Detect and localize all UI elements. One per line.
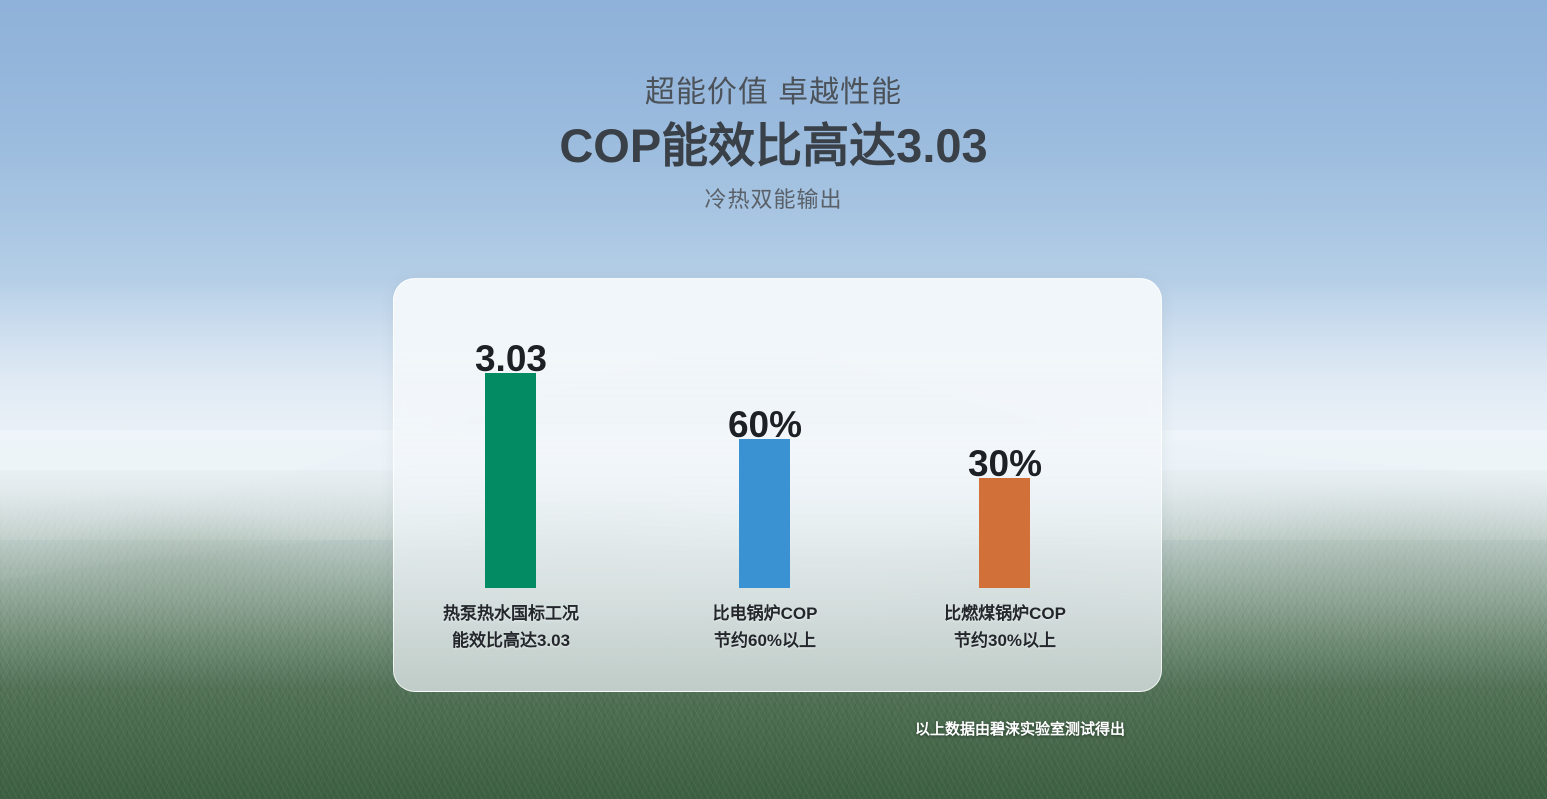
bar-caption-2-line2: 节约60%以上 bbox=[655, 627, 875, 654]
bar-caption-3-line1: 比燃煤锅炉COP bbox=[895, 600, 1115, 627]
subtitle-text: 冷热双能输出 bbox=[0, 184, 1547, 216]
bar-rect-1 bbox=[485, 373, 536, 588]
kicker-text: 超能价值 卓越性能 bbox=[0, 72, 1547, 114]
promo-banner: 超能价值 卓越性能 COP能效比高达3.03 冷热双能输出 3.03 热泵热水国… bbox=[0, 0, 1547, 799]
bar-caption-1-line1: 热泵热水国标工况 bbox=[401, 600, 621, 627]
header-block: 超能价值 卓越性能 COP能效比高达3.03 冷热双能输出 bbox=[0, 72, 1547, 216]
bar-caption-1: 热泵热水国标工况 能效比高达3.03 bbox=[401, 600, 621, 654]
bar-chart: 3.03 热泵热水国标工况 能效比高达3.03 60% 比电锅炉COP 节约60… bbox=[393, 278, 1160, 690]
bar-caption-3-line2: 节约30%以上 bbox=[895, 627, 1115, 654]
bar-caption-1-line2: 能效比高达3.03 bbox=[401, 627, 621, 654]
bar-caption-2-line1: 比电锅炉COP bbox=[655, 600, 875, 627]
page-title: COP能效比高达3.03 bbox=[0, 116, 1547, 176]
bar-rect-2 bbox=[739, 439, 790, 588]
bar-caption-3: 比燃煤锅炉COP 节约30%以上 bbox=[895, 600, 1115, 654]
data-source-footnote: 以上数据由碧涞实验室测试得出 bbox=[790, 719, 1250, 741]
bar-caption-2: 比电锅炉COP 节约60%以上 bbox=[655, 600, 875, 654]
bar-rect-3 bbox=[979, 478, 1030, 588]
